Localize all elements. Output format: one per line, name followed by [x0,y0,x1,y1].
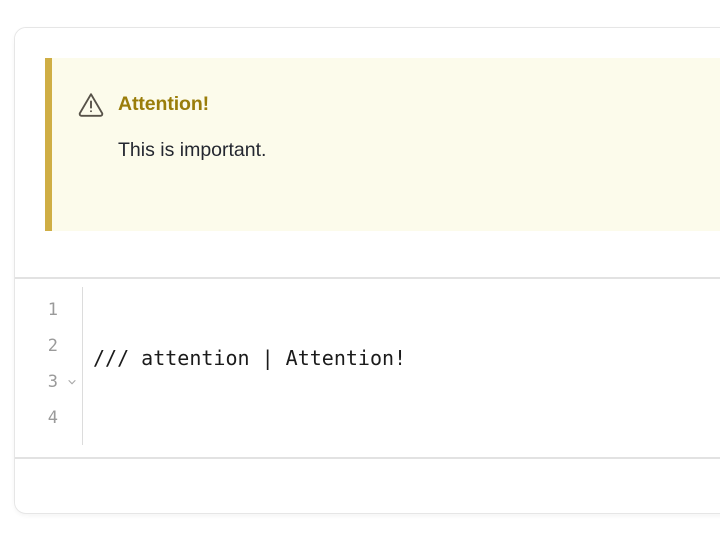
gutter-row-2: 2 [15,328,68,364]
admonition-preview-card: Attention! This is important. 1 2 3 [14,27,720,514]
line-number: 4 [48,410,58,427]
admonition-title: Attention! [118,93,209,116]
line-number: 1 [48,302,58,319]
code-line[interactable]: /// attention | Attention! [93,340,720,376]
line-number: 3 [48,374,58,391]
gutter-separator [82,287,83,445]
line-number-gutter: 1 2 3 4 [15,292,68,436]
code-editor-pane[interactable]: 1 2 3 4 /// a [15,279,720,459]
gutter-row-4: 4 [15,400,68,436]
gutter-row-1: 1 [15,292,68,328]
line-number: 2 [48,338,58,355]
admonition-attention: Attention! This is important. [45,58,720,231]
preview-pane: Attention! This is important. [15,28,720,279]
admonition-body-text: This is important. [52,117,720,163]
card-footer-strip [15,459,720,511]
admonition-title-row: Attention! [52,58,720,117]
warning-triangle-icon [77,91,105,117]
code-text-area[interactable]: /// attention | Attention! This is impor… [68,292,720,459]
gutter-row-3: 3 [15,364,68,400]
code-line[interactable] [93,424,720,459]
